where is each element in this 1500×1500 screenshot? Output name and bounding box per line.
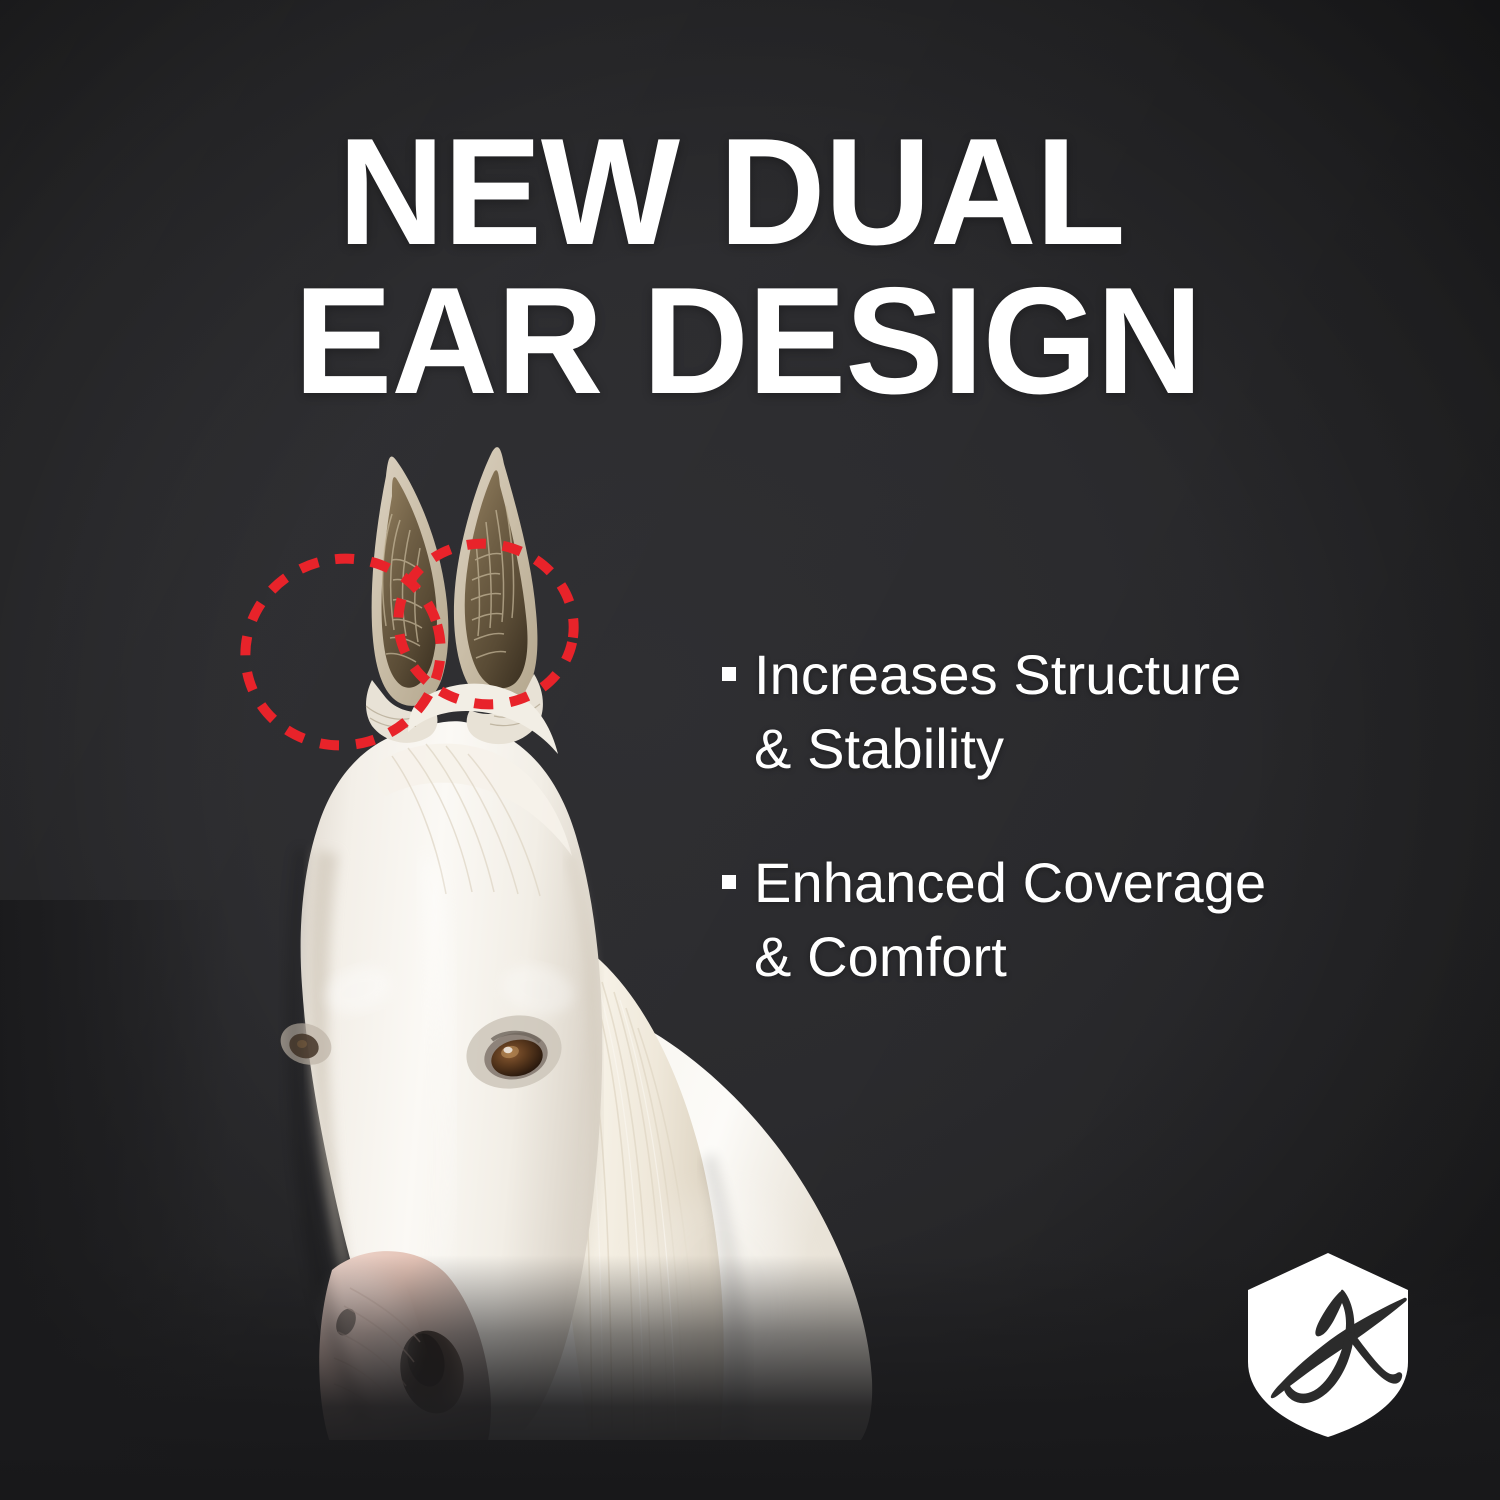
headline-line-1: NEW DUAL xyxy=(338,118,1221,267)
page-title: NEW DUAL EAR DESIGN xyxy=(288,118,1248,416)
feature-line-1: Enhanced Coverage xyxy=(754,851,1266,914)
product-feature-graphic: NEW DUAL EAR DESIGN Increases Structure … xyxy=(0,0,1500,1500)
feature-line-2: & Stability xyxy=(754,717,1004,780)
feature-text: Enhanced Coverage & Comfort xyxy=(754,846,1266,994)
brand-logo xyxy=(1242,1250,1414,1440)
horse-left-fade xyxy=(0,900,230,1460)
list-item: Enhanced Coverage & Comfort xyxy=(722,846,1412,994)
feature-list: Increases Structure & Stability Enhanced… xyxy=(722,638,1412,1054)
feature-line-1: Increases Structure xyxy=(754,643,1241,706)
feature-text: Increases Structure & Stability xyxy=(754,638,1241,786)
headline-line-2: EAR DESIGN xyxy=(294,267,1219,416)
square-bullet-icon xyxy=(722,667,736,681)
feature-line-2: & Comfort xyxy=(754,925,1007,988)
square-bullet-icon xyxy=(722,875,736,889)
list-item: Increases Structure & Stability xyxy=(722,638,1412,786)
